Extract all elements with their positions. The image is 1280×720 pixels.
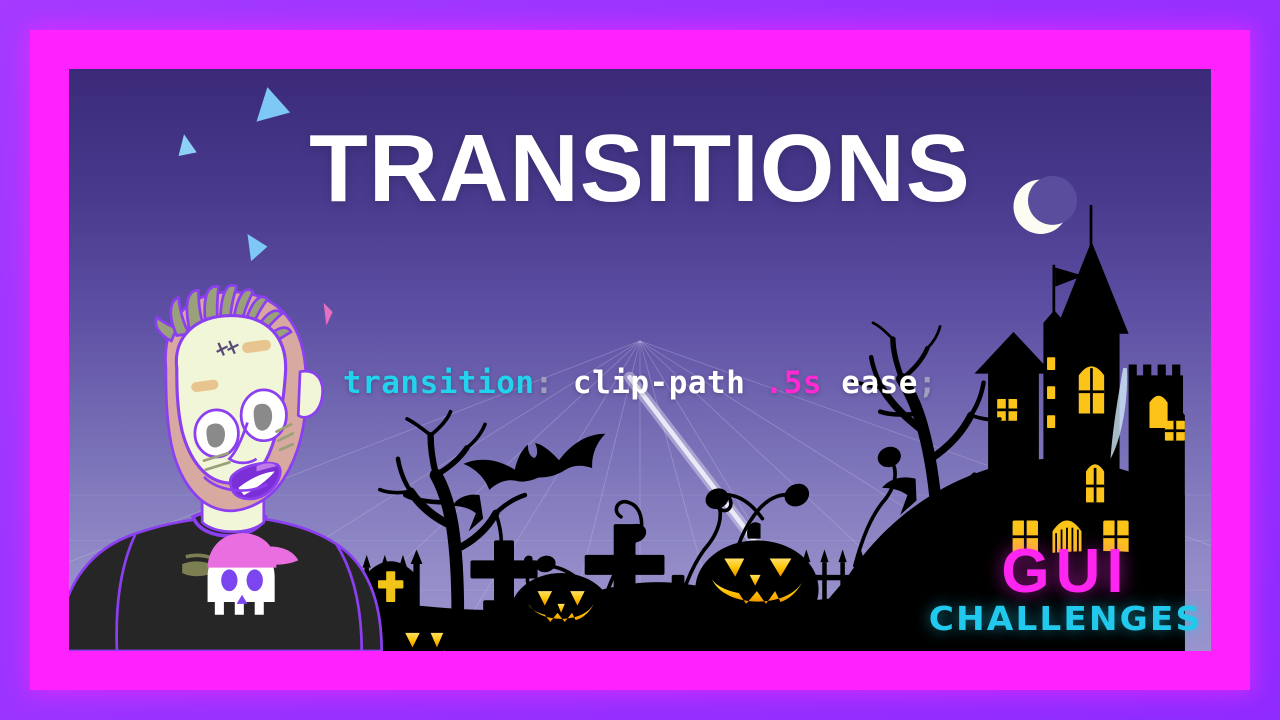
code-semicolon: ; (918, 365, 937, 401)
code-easing: ease (841, 365, 918, 401)
gui-challenges-logo: GUI CHALLENGES (934, 543, 1197, 635)
neon-border: TRANSITIONS transition: clip-path .5s ea… (30, 30, 1250, 690)
logo-challenges-text: CHALLENGES (929, 602, 1203, 635)
code-snippet: transition: clip-path .5s ease; (69, 365, 1211, 401)
thumbnail-stage: TRANSITIONS transition: clip-path .5s ea… (69, 69, 1211, 651)
page-title: TRANSITIONS (69, 121, 1211, 217)
code-property: transition (343, 365, 535, 401)
code-value: clip-path (573, 365, 745, 401)
code-colon: : (535, 365, 554, 401)
outer-frame: TRANSITIONS transition: clip-path .5s ea… (0, 0, 1280, 720)
logo-gui-text: GUI (934, 543, 1197, 602)
code-duration: .5s (765, 365, 823, 401)
